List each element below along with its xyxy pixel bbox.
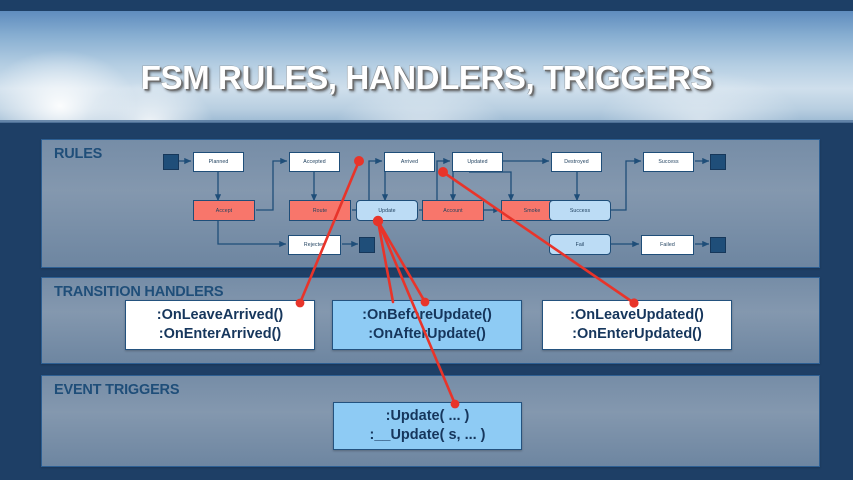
end-terminal-failed bbox=[710, 237, 726, 253]
start-terminal bbox=[163, 154, 179, 170]
action-accept-label: Accept bbox=[216, 208, 232, 214]
action-route-label: Route bbox=[313, 208, 327, 214]
handler-arrived-line2: :OnEnterArrived() bbox=[159, 325, 281, 344]
state-success[interactable]: Success bbox=[643, 152, 694, 172]
state-rejected[interactable]: Rejected bbox=[288, 235, 341, 255]
state-arrived-label: Arrived bbox=[401, 159, 418, 165]
handler-box-updated[interactable]: :OnLeaveUpdated() :OnEnterUpdated() bbox=[542, 300, 732, 350]
action-success-label: Success bbox=[570, 208, 590, 214]
state-success-label: Success bbox=[658, 159, 678, 165]
state-updated-label: Updated bbox=[467, 159, 487, 165]
state-arrived[interactable]: Arrived bbox=[384, 152, 435, 172]
state-accepted-label: Accepted bbox=[303, 159, 325, 165]
state-planned-label: Planned bbox=[209, 159, 229, 165]
state-failed[interactable]: Failed bbox=[641, 235, 694, 255]
triggers-panel-title: EVENT TRIGGERS bbox=[54, 382, 179, 398]
action-account-label: Account bbox=[443, 208, 462, 214]
handler-box-update[interactable]: :OnBeforeUpdate() :OnAfterUpdate() bbox=[332, 300, 522, 350]
handler-updated-line1: :OnLeaveUpdated() bbox=[570, 306, 704, 325]
action-success[interactable]: Success bbox=[549, 200, 611, 221]
state-accepted[interactable]: Accepted bbox=[289, 152, 340, 172]
handler-updated-line2: :OnEnterUpdated() bbox=[572, 325, 702, 344]
action-smoke-label: Smoke bbox=[524, 208, 541, 214]
handler-arrived-line1: :OnLeaveArrived() bbox=[157, 306, 284, 325]
action-fail[interactable]: Fail bbox=[549, 234, 611, 255]
end-terminal-rejected bbox=[359, 237, 375, 253]
page-title: FSM RULES, HANDLERS, TRIGGERS bbox=[0, 59, 853, 97]
action-fail-label: Fail bbox=[576, 242, 585, 248]
state-failed-label: Failed bbox=[660, 242, 675, 248]
trigger-box-update[interactable]: :Update( ... ) :__Update( s, ... ) bbox=[333, 402, 522, 450]
state-destroyed-label: Destroyed bbox=[564, 159, 589, 165]
top-accent-bar bbox=[0, 0, 853, 11]
state-updated[interactable]: Updated bbox=[452, 152, 503, 172]
state-machine-diagram: Planned Accepted Arrived Updated Destroy… bbox=[41, 139, 818, 266]
state-rejected-label: Rejected bbox=[304, 242, 325, 248]
handler-update-line1: :OnBeforeUpdate() bbox=[362, 306, 492, 325]
handler-update-line2: :OnAfterUpdate() bbox=[368, 325, 486, 344]
state-destroyed[interactable]: Destroyed bbox=[551, 152, 602, 172]
action-accept[interactable]: Accept bbox=[193, 200, 255, 221]
action-account[interactable]: Account bbox=[422, 200, 484, 221]
state-planned[interactable]: Planned bbox=[193, 152, 244, 172]
action-update-label: Update bbox=[378, 208, 395, 214]
trigger-update-line2: :__Update( s, ... ) bbox=[369, 426, 485, 445]
trigger-update-line1: :Update( ... ) bbox=[386, 407, 470, 426]
slide-canvas: FSM RULES, HANDLERS, TRIGGERS RULES bbox=[0, 0, 853, 480]
end-terminal-success bbox=[710, 154, 726, 170]
action-update[interactable]: Update bbox=[356, 200, 418, 221]
header-divider bbox=[0, 120, 853, 123]
handler-box-arrived[interactable]: :OnLeaveArrived() :OnEnterArrived() bbox=[125, 300, 315, 350]
handlers-panel-title: TRANSITION HANDLERS bbox=[54, 284, 223, 300]
action-route[interactable]: Route bbox=[289, 200, 351, 221]
slide-header-band: FSM RULES, HANDLERS, TRIGGERS bbox=[0, 11, 853, 122]
